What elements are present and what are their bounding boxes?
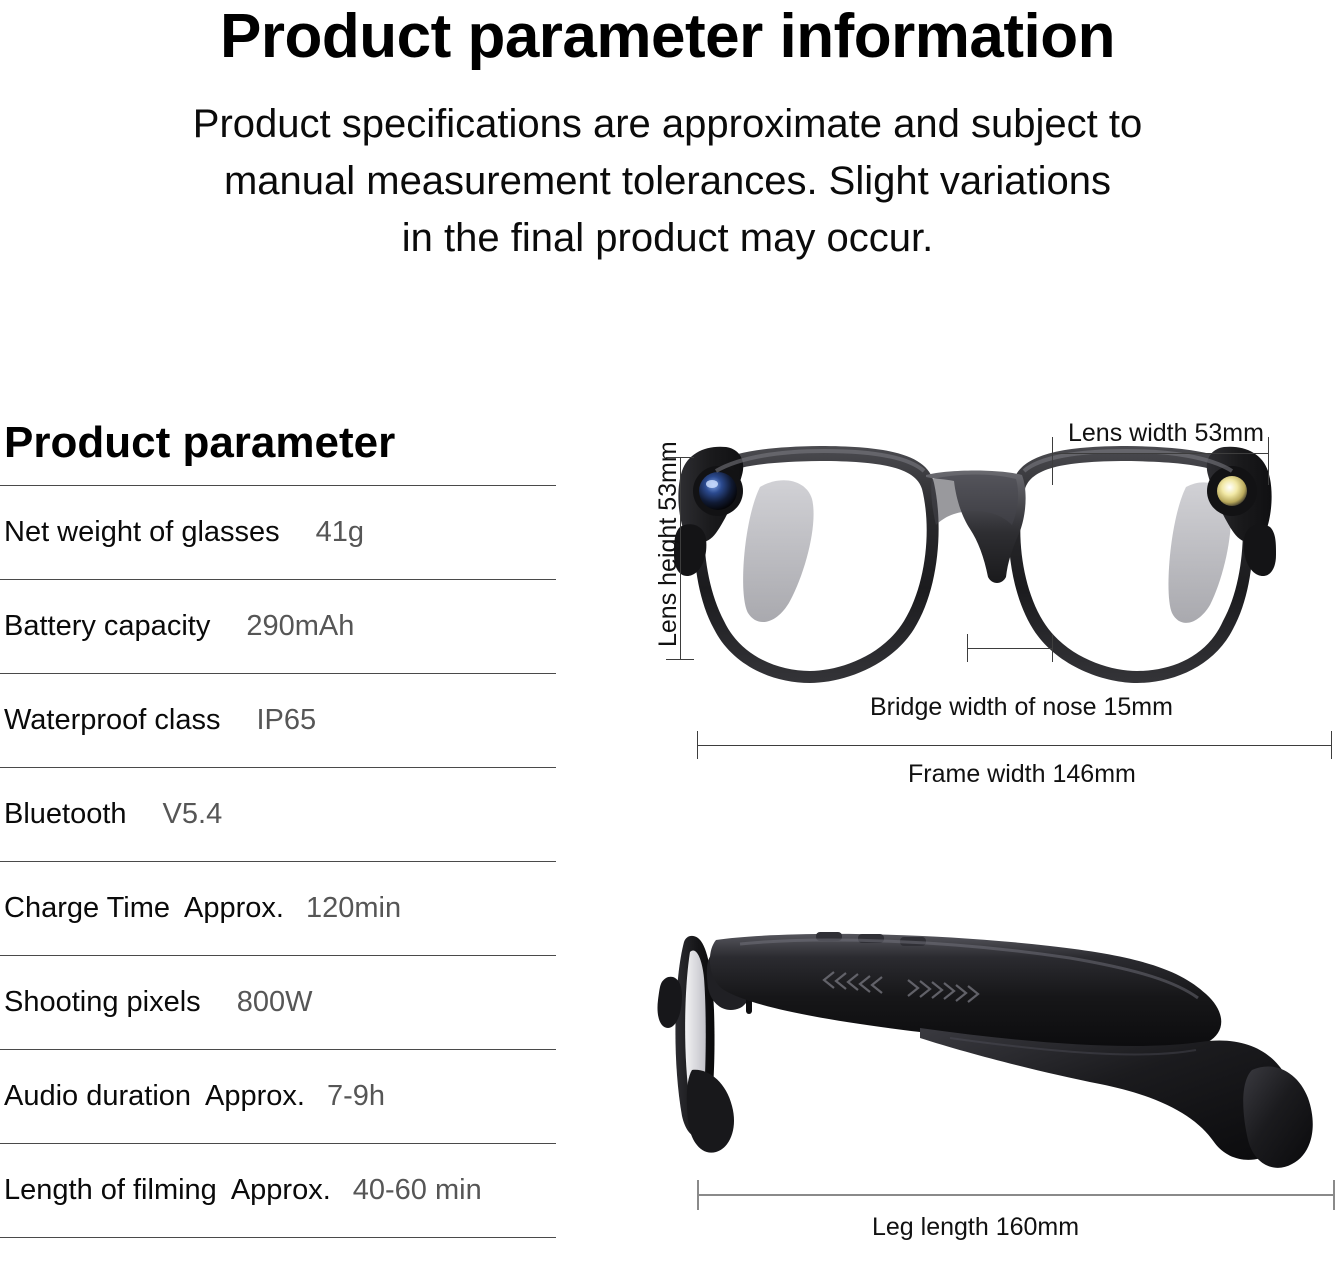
param-value: 7-9h [327, 1080, 385, 1113]
glasses-side-view-diagram: Leg length 160mm [620, 895, 1335, 1271]
product-spec-page: Product parameter information Product sp… [0, 0, 1335, 1271]
page-title: Product parameter information [0, 4, 1335, 69]
table-row: Net weight of glasses 41g [0, 486, 556, 579]
subtitle-line-1: Product specifications are approximate a… [150, 96, 1185, 153]
param-value: 41g [316, 516, 364, 549]
led-indicator-icon [1217, 476, 1247, 506]
param-label: Bluetooth [4, 798, 127, 831]
camera-icon [699, 472, 737, 510]
table-row: Battery capacity 290mAh [0, 580, 556, 673]
lens-width-tick-left [1052, 437, 1053, 485]
product-parameter-table: Product parameter Net weight of glasses … [0, 418, 556, 1238]
param-label: Shooting pixels [4, 986, 201, 1019]
param-value: 40-60 min [353, 1174, 482, 1207]
bridge-width-tick-left [967, 634, 968, 662]
lens-width-dim-line [1052, 453, 1268, 454]
param-value: 800W [237, 986, 313, 1019]
lens-height-label: Lens height 53mm [654, 441, 683, 647]
frame-width-label: Frame width 146mm [908, 760, 1136, 789]
frame-width-tick-right [1331, 731, 1332, 759]
param-value: V5.4 [163, 798, 223, 831]
section-title: Product parameter [0, 418, 556, 469]
glasses-front-view-diagram: Lens height 53mm Lens width 53mm Bridge … [620, 415, 1335, 785]
lens-height-dim-line [680, 457, 681, 659]
param-label: Waterproof class [4, 704, 221, 737]
bridge-width-dim-line [967, 648, 1052, 649]
param-value: 120min [306, 892, 401, 925]
table-row: Bluetooth V5.4 [0, 768, 556, 861]
glasses-front-illustration [620, 435, 1335, 725]
param-label: Length of filming [4, 1174, 217, 1207]
bridge-width-label: Bridge width of nose 15mm [870, 693, 1173, 722]
param-approx: Approx. [184, 892, 284, 925]
param-label: Charge Time [4, 892, 170, 925]
frame-width-tick-left [697, 731, 698, 759]
param-approx: Approx. [231, 1174, 331, 1207]
leg-length-tick-left [697, 1180, 699, 1210]
ear-tip [1243, 1066, 1313, 1167]
lens-height-tick-bottom [666, 659, 694, 660]
param-label: Audio duration [4, 1080, 191, 1113]
left-temple-arm-behind-lens [743, 480, 813, 622]
table-row: Audio duration Approx. 7-9h [0, 1050, 556, 1143]
subtitle-line-2: manual measurement tolerances. Slight va… [150, 153, 1185, 210]
lens-height-tick-top [666, 457, 694, 458]
lens-width-label: Lens width 53mm [1068, 419, 1264, 448]
page-subtitle: Product specifications are approximate a… [150, 96, 1185, 266]
glasses-side-illustration [620, 920, 1335, 1180]
frame-width-dim-line [697, 745, 1331, 746]
param-value: 290mAh [246, 610, 354, 643]
param-label: Net weight of glasses [4, 516, 280, 549]
subtitle-line-3: in the final product may occur. [150, 210, 1185, 267]
temple-arm-bend [920, 1028, 1295, 1160]
table-row: Charge Time Approx. 120min [0, 862, 556, 955]
leg-length-dim-line [697, 1194, 1335, 1196]
lens-width-tick-right [1268, 437, 1269, 485]
table-row: Length of filming Approx. 40-60 min [0, 1144, 556, 1237]
param-label: Battery capacity [4, 610, 210, 643]
leg-length-label: Leg length 160mm [872, 1213, 1079, 1242]
lower-rim-edge [687, 1070, 734, 1153]
bridge-width-tick-right [1052, 634, 1053, 662]
table-row: Waterproof class IP65 [0, 674, 556, 767]
camera-glint [706, 480, 718, 488]
param-approx: Approx. [205, 1080, 305, 1113]
param-value: IP65 [257, 704, 317, 737]
table-rule [0, 1237, 556, 1238]
table-row: Shooting pixels 800W [0, 956, 556, 1049]
